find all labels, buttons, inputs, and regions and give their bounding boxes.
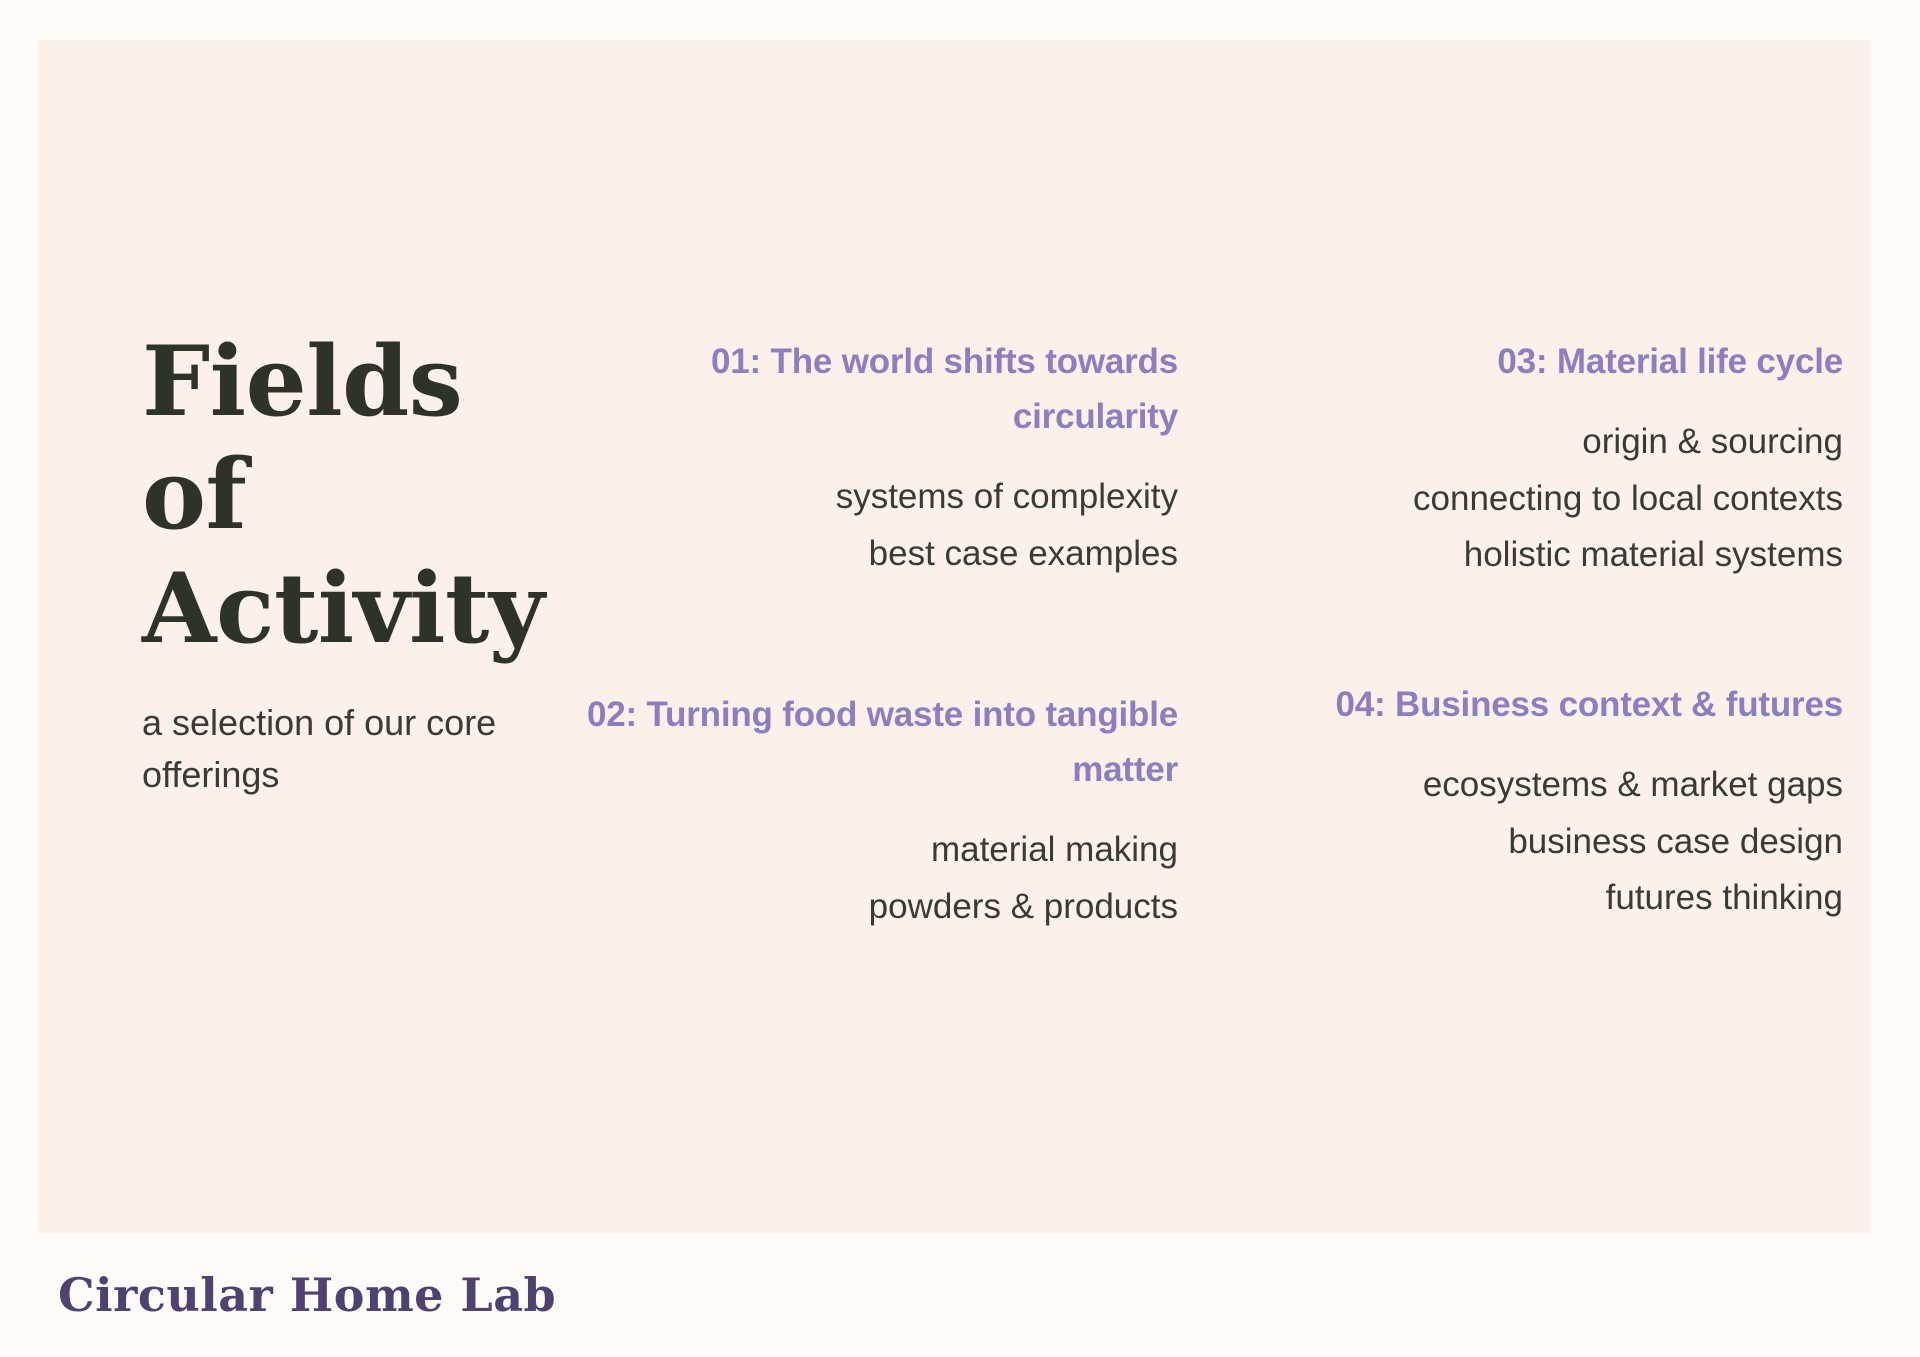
field-item: business case design <box>1078 814 1843 871</box>
field-item: holistic material systems <box>1078 527 1843 584</box>
page-subtitle: a selection of our core offerings <box>142 697 542 801</box>
brand-logo: Circular Home Lab <box>58 1268 556 1322</box>
field-item: ecosystems & market gaps <box>1078 757 1843 814</box>
field-item: connecting to local contexts <box>1078 471 1843 528</box>
field-heading-04: 04: Business context & futures <box>1078 678 1843 733</box>
fields-column-3: 03: Material life cycle origin & sourcin… <box>1078 40 1843 1233</box>
field-item: futures thinking <box>1078 870 1843 927</box>
title-column: Fields of Activity a selection of our co… <box>142 325 572 801</box>
page-title: Fields of Activity <box>142 325 572 665</box>
field-block-04: 04: Business context & futures ecosystem… <box>1078 678 1843 927</box>
content-columns: Fields of Activity a selection of our co… <box>38 40 1870 1233</box>
field-item: origin & sourcing <box>1078 414 1843 471</box>
field-heading-03: 03: Material life cycle <box>1078 335 1843 390</box>
field-items-04: ecosystems & market gaps business case d… <box>1078 757 1843 927</box>
field-block-03: 03: Material life cycle origin & sourcin… <box>1078 335 1843 584</box>
field-items-03: origin & sourcing connecting to local co… <box>1078 414 1843 584</box>
slide-panel: Fields of Activity a selection of our co… <box>38 40 1870 1233</box>
